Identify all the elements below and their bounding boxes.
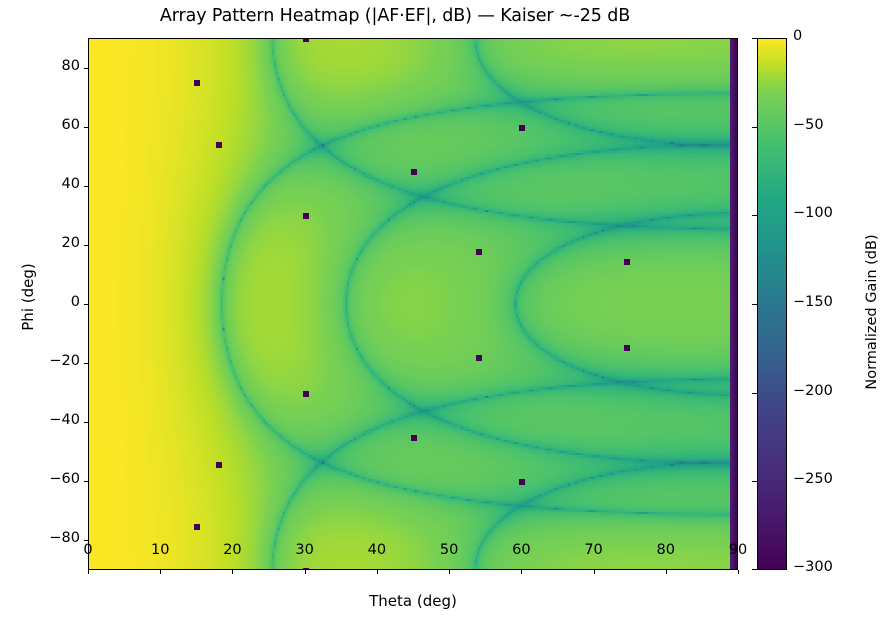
colorbar-tick-label: −250 — [793, 471, 833, 487]
x-tick — [521, 570, 522, 574]
null-marker — [624, 345, 630, 351]
chart-title: Array Pattern Heatmap (|AF·EF|, dB) — Ka… — [0, 6, 790, 26]
colorbar-tick-label: −50 — [793, 117, 824, 133]
heatmap-axes — [88, 38, 738, 570]
colorbar-label: Normalized Gain (dB) — [864, 182, 880, 442]
y-tick-label: −80 — [20, 530, 80, 546]
x-tick-label: 10 — [130, 542, 190, 558]
colorbar-tick — [752, 481, 757, 482]
null-marker — [303, 391, 309, 397]
x-tick-label: 80 — [636, 542, 696, 558]
colorbar — [757, 38, 787, 570]
x-tick-label: 70 — [564, 542, 624, 558]
x-tick — [232, 570, 233, 574]
x-tick-label: 50 — [419, 542, 479, 558]
null-marker — [216, 462, 222, 468]
colorbar-tick-label: −300 — [793, 559, 833, 575]
y-tick-label: 80 — [20, 58, 80, 74]
y-tick — [84, 127, 88, 128]
y-tick-label: 60 — [20, 117, 80, 133]
null-marker — [411, 169, 417, 175]
colorbar-tick — [752, 304, 757, 305]
null-marker — [303, 568, 309, 570]
colorbar-tick — [752, 38, 757, 39]
null-marker — [194, 524, 200, 530]
y-tick — [84, 422, 88, 423]
colorbar-tick-label: −200 — [793, 383, 833, 399]
x-tick — [88, 570, 89, 574]
y-tick — [84, 481, 88, 482]
null-marker — [624, 259, 630, 265]
null-marker — [476, 249, 482, 255]
null-marker — [519, 125, 525, 131]
null-marker — [303, 38, 309, 42]
null-marker — [519, 479, 525, 485]
null-marker — [411, 435, 417, 441]
x-tick-label: 60 — [491, 542, 551, 558]
figure: Array Pattern Heatmap (|AF·EF|, dB) — Ka… — [0, 0, 885, 637]
null-marker — [194, 80, 200, 86]
null-marker — [303, 213, 309, 219]
x-tick — [738, 570, 739, 574]
colorbar-tick — [752, 215, 757, 216]
x-tick-label: 20 — [202, 542, 262, 558]
x-tick — [305, 570, 306, 574]
y-tick — [84, 363, 88, 364]
y-tick — [84, 540, 88, 541]
colorbar-tick — [752, 393, 757, 394]
y-tick-label: −60 — [20, 471, 80, 487]
colorbar-tick-label: −150 — [793, 294, 833, 310]
x-axis-label: Theta (deg) — [88, 592, 738, 610]
y-tick — [84, 186, 88, 187]
colorbar-tick-label: −100 — [793, 205, 833, 221]
colorbar-tick — [752, 569, 757, 570]
colorbar-tick-label: 0 — [793, 28, 802, 44]
y-axis-label: Phi (deg) — [19, 187, 37, 407]
x-tick — [377, 570, 378, 574]
null-markers-layer — [89, 39, 737, 569]
x-tick — [666, 570, 667, 574]
x-tick — [449, 570, 450, 574]
x-tick-label: 40 — [347, 542, 407, 558]
x-tick — [594, 570, 595, 574]
y-tick — [84, 304, 88, 305]
y-tick — [84, 245, 88, 246]
null-marker — [476, 355, 482, 361]
y-tick — [84, 68, 88, 69]
x-tick — [160, 570, 161, 574]
y-tick-label: −40 — [20, 412, 80, 428]
null-marker — [216, 142, 222, 148]
x-tick-label: 30 — [275, 542, 335, 558]
colorbar-tick — [752, 127, 757, 128]
